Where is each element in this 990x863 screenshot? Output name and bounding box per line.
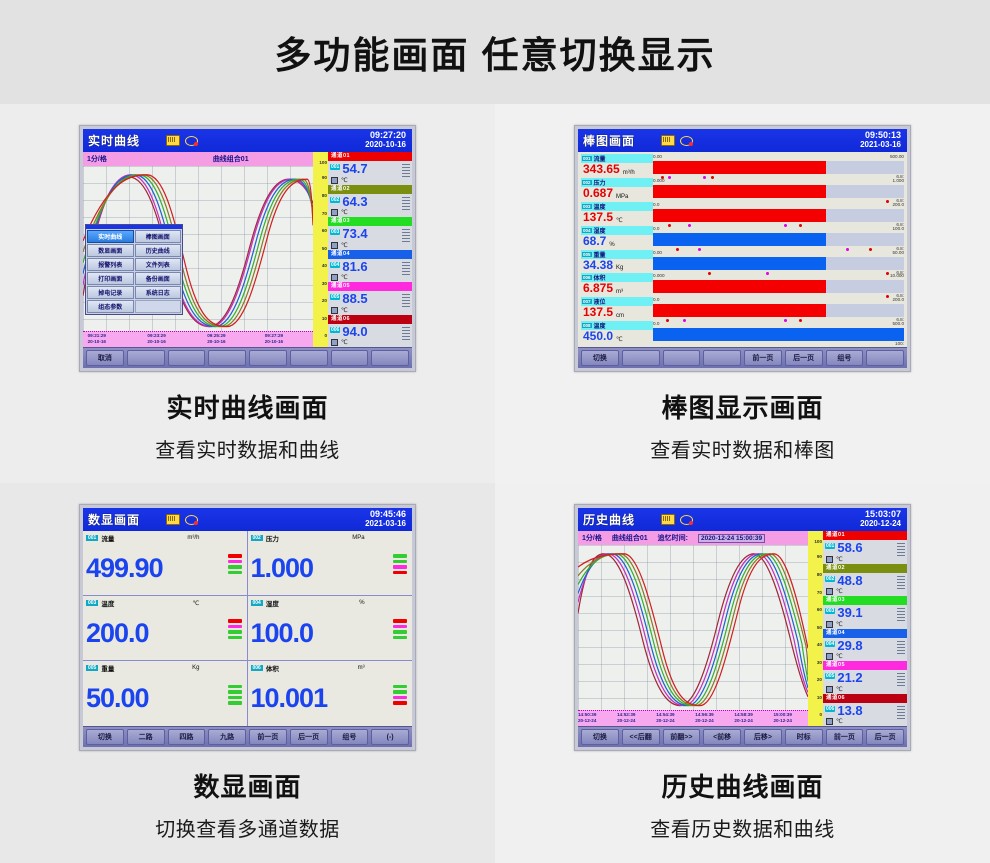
titlebar: 棒图画面 09:50:13 2021-03-16 xyxy=(578,129,907,152)
channel-row[interactable]: 通道05 005 21.2 ℃ xyxy=(823,661,907,694)
footer-button[interactable]: 四路 xyxy=(168,729,206,745)
bar-range-min: 0.0 xyxy=(653,297,659,302)
channel-tag: 003 xyxy=(330,229,340,235)
bar-fill xyxy=(653,161,826,174)
channel-name: 通道02 xyxy=(328,185,412,194)
signal-bars-icon xyxy=(897,607,905,621)
digital-unit: % xyxy=(359,600,364,606)
bar-value: 137.5 xyxy=(583,211,613,224)
footer-button[interactable] xyxy=(331,350,369,366)
digital-name: 流量 xyxy=(101,533,114,543)
digital-cell[interactable]: 001 流量 m³/h 499.90 xyxy=(83,531,248,596)
bar-value: 450.0 xyxy=(583,330,613,343)
channel-name: 通道01 xyxy=(328,152,412,161)
digital-value: 10.001 xyxy=(251,685,328,712)
channel-tag: 004 xyxy=(825,641,835,647)
footer-button[interactable]: 时标 xyxy=(785,729,823,745)
panel-caption-sub: 查看实时数据和棒图 xyxy=(650,434,835,463)
panel-caption-title: 数显画面 xyxy=(193,767,301,804)
bar-value: 6.875 xyxy=(583,282,613,295)
channel-unit: ℃ xyxy=(341,209,348,216)
digital-value: 100.0 xyxy=(251,620,314,647)
channel-tag: 005 xyxy=(825,673,835,679)
menu-item-empty xyxy=(135,300,182,313)
channel-unit: ℃ xyxy=(836,588,843,595)
menu-item-history-curve[interactable]: 历史曲线 xyxy=(135,244,182,257)
digital-tag: 003 xyxy=(86,600,98,606)
channel-tag: 004 xyxy=(330,262,340,268)
bar-right-unit: 100: xyxy=(895,341,904,346)
bar-unit: Kg xyxy=(616,265,623,273)
bar-unit: m³/h xyxy=(623,170,635,178)
channel-name: 通道04 xyxy=(823,629,907,638)
bar-range-max: 1.000 xyxy=(893,178,905,183)
footer-button[interactable]: 切换 xyxy=(86,729,124,745)
digital-cell[interactable]: 004 湿度 % 100.0 xyxy=(248,596,413,661)
channel-tag: 005 xyxy=(330,294,340,300)
bar-row[interactable]: 004 湿度 68.7 % 0.0 xyxy=(581,226,904,250)
bar-range-max: 100.0 xyxy=(893,226,905,231)
channel-row[interactable]: 通道01 001 58.6 ℃ xyxy=(823,531,907,564)
digital-value: 50.00 xyxy=(86,685,149,712)
bar-range-min: 0.0 xyxy=(653,226,659,231)
bar-value: 343.65 xyxy=(583,163,620,176)
bar-row[interactable]: 001 流量 343.65 m³/h 0.00 xyxy=(581,154,904,178)
footer-buttons: 取消 xyxy=(83,347,412,368)
scale-tick: 50 xyxy=(322,246,327,251)
signal-bars-icon xyxy=(402,228,410,242)
device-screen-history[interactable]: 历史曲线 15:03:07 2020-12-24 xyxy=(574,504,911,751)
scale-tick: 90 xyxy=(322,175,327,180)
digital-value: 200.0 xyxy=(86,620,149,647)
digital-name: 湿度 xyxy=(266,598,279,608)
clock-date: 2020-12-24 xyxy=(860,519,901,529)
signal-bars-icon xyxy=(402,261,410,275)
screen-title: 实时曲线 xyxy=(88,132,140,149)
bar-unit: ℃ xyxy=(616,336,623,345)
channel-name: 通道03 xyxy=(823,596,907,605)
footer-button[interactable] xyxy=(127,350,165,366)
menu-item-realtime-curve[interactable]: 实时曲线 xyxy=(87,230,134,243)
channel-row[interactable]: 通道03 003 39.1 ℃ xyxy=(823,596,907,629)
signal-bars-icon xyxy=(402,326,410,340)
footer-button[interactable] xyxy=(208,350,246,366)
digital-tag: 002 xyxy=(251,535,263,541)
scale-tick: 40 xyxy=(322,263,327,268)
channel-value: 54.7 xyxy=(342,162,367,175)
channel-unit: ℃ xyxy=(341,307,348,314)
channel-value: 73.4 xyxy=(342,227,367,240)
clock: 09:27:20 2020-10-16 xyxy=(365,130,406,150)
footer-button[interactable]: 组号 xyxy=(331,729,369,745)
scale-tick: 10 xyxy=(322,316,327,321)
channel-unit: ℃ xyxy=(836,718,843,725)
footer-button[interactable] xyxy=(866,350,904,366)
footer-button[interactable]: 后一页 xyxy=(785,350,823,366)
channel-tag: 001 xyxy=(330,164,340,170)
menu-item-system-log[interactable]: 系统日志 xyxy=(135,286,182,299)
channel-tag: 001 xyxy=(825,543,835,549)
bar-range-min: 0.000 xyxy=(653,178,665,183)
channel-row[interactable]: 通道06 006 13.8 ℃ xyxy=(823,694,907,727)
bar-range-min: 0.0 xyxy=(653,202,659,207)
digital-unit: MPa xyxy=(352,535,364,541)
screen-title: 数显画面 xyxy=(88,511,140,528)
sd-card-icon xyxy=(661,514,675,525)
scale-tick: 40 xyxy=(817,642,822,647)
footer-button[interactable]: <前移 xyxy=(703,729,741,745)
curve-time-axis: 09:21:29 20-10-16 09:23:29 20-10-16 09:2… xyxy=(83,331,313,347)
footer-button[interactable]: 后一页 xyxy=(866,729,904,745)
bar-tag: 006 xyxy=(582,275,592,280)
channel-panel: 通道01 001 58.6 ℃ 通道02 xyxy=(823,531,907,726)
time-tick: 09:25:29 20-10-16 xyxy=(207,333,225,345)
footer-button[interactable] xyxy=(290,350,328,366)
panel-caption-title: 棒图显示画面 xyxy=(661,388,823,425)
digital-tag: 005 xyxy=(86,665,98,671)
menu-item-digital[interactable]: 数显画面 xyxy=(87,244,134,257)
scale-tick: 50 xyxy=(817,625,822,630)
channel-row[interactable]: 通道04 004 81.6 ℃ xyxy=(328,250,412,283)
scale-tick: 70 xyxy=(322,211,327,216)
panel-bar-graph: 棒图画面 09:50:13 2021-03-16 xyxy=(495,104,990,483)
footer-button[interactable] xyxy=(703,350,741,366)
bar-tag: 001 xyxy=(582,156,592,161)
bar-range-min: 0.0 xyxy=(653,321,659,326)
footer-button[interactable] xyxy=(663,350,701,366)
footer-button[interactable]: <<后翻 xyxy=(622,729,660,745)
curve-rate: 1分/格 xyxy=(582,533,602,543)
footer-button[interactable]: 二路 xyxy=(127,729,165,745)
bar-tag: 008 xyxy=(582,323,592,328)
digital-tag: 001 xyxy=(86,535,98,541)
scale-tick: 60 xyxy=(322,228,327,233)
digital-unit: m³/h xyxy=(187,535,199,541)
curve-plot-area[interactable]: 实时曲线 棒图画面 数显画面 历史曲线 报警列表 文件列表 打印画面 备份画面 xyxy=(83,166,313,331)
bar-tag: 002 xyxy=(582,180,592,185)
menu-item-alarm-list[interactable]: 报警列表 xyxy=(87,258,134,271)
scale-tick: 80 xyxy=(322,193,327,198)
clock-time: 09:27:20 xyxy=(365,130,406,140)
bar-unit: MPa xyxy=(616,194,628,202)
channel-unit: ℃ xyxy=(836,556,843,563)
page-root: 多功能画面 任意切换显示 实时曲线 09:27:20 2020-10-16 xyxy=(0,0,990,863)
bar-fill xyxy=(653,209,826,222)
footer-button[interactable] xyxy=(371,350,409,366)
channel-checkbox[interactable] xyxy=(331,274,338,281)
panel-history-curve: 历史曲线 15:03:07 2020-12-24 xyxy=(495,483,990,863)
channel-name: 通道02 xyxy=(823,564,907,573)
digital-tag: 004 xyxy=(251,600,263,606)
panel-realtime-curve: 实时曲线 09:27:20 2020-10-16 xyxy=(0,104,495,483)
sd-card-icon xyxy=(166,135,180,146)
digital-name: 体积 xyxy=(266,663,279,673)
bar-fill xyxy=(653,185,826,198)
channel-tag: 002 xyxy=(330,197,340,203)
bar-fill xyxy=(653,304,826,317)
clock-date: 2020-10-16 xyxy=(365,140,406,150)
digital-value: 1.000 xyxy=(251,555,314,582)
channel-tag: 003 xyxy=(825,608,835,614)
bar-range-max: 500.00 xyxy=(890,154,904,159)
screen-title: 棒图画面 xyxy=(583,132,635,149)
curve-time-axis: 14:50:39 20-12-24 14:52:39 20-12-24 14:5… xyxy=(578,710,808,726)
scale-tick: 0 xyxy=(324,333,327,338)
footer-button[interactable]: 后一页 xyxy=(290,729,328,745)
footer-button[interactable]: 前一页 xyxy=(826,729,864,745)
bar-range-max: 50.00 xyxy=(893,250,905,255)
channel-row[interactable]: 通道02 002 64.3 ℃ xyxy=(328,185,412,218)
scale-tick: 0 xyxy=(819,712,822,717)
popup-menu[interactable]: 实时曲线 棒图画面 数显画面 历史曲线 报警列表 文件列表 打印画面 备份画面 xyxy=(85,224,183,315)
recall-label: 追忆时间: xyxy=(658,533,688,543)
curve-toolbar: 1分/格 曲线组合01 xyxy=(83,152,313,166)
bar-value: 137.5 xyxy=(583,306,613,319)
bar-row[interactable]: 003 温度 137.5 ℃ 0.0 xyxy=(581,202,904,226)
device-screen-digital[interactable]: 数显画面 09:45:46 2021-03-16 xyxy=(79,504,416,751)
menu-item-backup[interactable]: 备份画面 xyxy=(135,272,182,285)
bar-fill xyxy=(653,233,826,246)
device-screen-realtime[interactable]: 实时曲线 09:27:20 2020-10-16 xyxy=(79,125,416,372)
footer-button[interactable]: 后移> xyxy=(744,729,782,745)
digital-unit: m³ xyxy=(358,665,365,671)
bar-range-min: 0.00 xyxy=(653,250,662,255)
clock: 09:45:46 2021-03-16 xyxy=(365,509,406,529)
clock-time: 09:50:13 xyxy=(860,130,901,140)
recall-time-input[interactable]: 2020-12-24 15:00:39 xyxy=(698,534,765,543)
bar-tag: 004 xyxy=(582,228,592,233)
time-tick: 14:50:39 20-12-24 xyxy=(578,712,596,724)
bar-unit: ℃ xyxy=(616,217,623,226)
scale-tick: 70 xyxy=(817,590,822,595)
channel-checkbox[interactable] xyxy=(331,177,338,184)
clock-time: 15:03:07 xyxy=(860,509,901,519)
bar-row[interactable]: 005 重量 34.38 Kg 0.00 xyxy=(581,250,904,274)
channel-row[interactable]: 通道05 005 88.5 ℃ xyxy=(328,282,412,315)
bar-row[interactable]: 002 压力 0.687 MPa 0.000 xyxy=(581,178,904,202)
footer-button[interactable]: 前一页 xyxy=(744,350,782,366)
curve-rate: 1分/格 xyxy=(87,154,107,164)
scale-tick: 80 xyxy=(817,572,822,577)
bar-range-max: 500.0 xyxy=(893,321,905,326)
menu-item-print[interactable]: 打印画面 xyxy=(87,272,134,285)
time-tick: 14:54:39 20-12-24 xyxy=(656,712,674,724)
footer-buttons: 切换 二路 四路 九路 前一页 后一页 组号 (-) xyxy=(83,726,412,747)
channel-unit: ℃ xyxy=(341,177,348,184)
clock-time: 09:45:46 xyxy=(365,509,406,519)
digital-unit: Kg xyxy=(192,665,199,671)
channel-row[interactable]: 通道02 002 48.8 ℃ xyxy=(823,564,907,597)
channel-row[interactable]: 通道01 001 54.7 ℃ xyxy=(328,152,412,185)
footer-button[interactable] xyxy=(249,350,287,366)
channel-value: 94.0 xyxy=(342,325,367,338)
usb-icon xyxy=(185,514,198,525)
time-tick: 14:58:39 20-12-24 xyxy=(734,712,752,724)
channel-value: 39.1 xyxy=(837,606,862,619)
channel-value: 58.6 xyxy=(837,541,862,554)
digital-cell[interactable]: 005 重量 Kg 50.00 xyxy=(83,661,248,726)
clock-date: 2021-03-16 xyxy=(860,140,901,150)
channel-unit: ℃ xyxy=(341,242,348,249)
scale-tick: 100 xyxy=(814,539,822,544)
curve-group: 曲线组合01 xyxy=(213,154,249,164)
digital-cell[interactable]: 003 温度 ℃ 200.0 xyxy=(83,596,248,661)
screen-title: 历史曲线 xyxy=(583,511,635,528)
curve-plot-area[interactable] xyxy=(578,545,808,710)
channel-checkbox[interactable] xyxy=(826,653,833,660)
digital-unit: ℃ xyxy=(193,600,200,607)
footer-button[interactable]: 前翻>> xyxy=(663,729,701,745)
curve-group: 曲线组合01 xyxy=(612,533,648,543)
time-tick: 14:52:39 20-12-24 xyxy=(617,712,635,724)
channel-row[interactable]: 通道04 004 29.8 ℃ xyxy=(823,629,907,662)
bar-range-max: 10.000 xyxy=(890,273,904,278)
channel-tag: 006 xyxy=(825,706,835,712)
digital-name: 温度 xyxy=(101,598,114,608)
channel-name: 通道04 xyxy=(328,250,412,259)
bar-value: 0.687 xyxy=(583,187,613,200)
footer-button[interactable]: (-) xyxy=(371,729,409,745)
channel-checkbox[interactable] xyxy=(826,621,833,628)
device-screen-bargraph[interactable]: 棒图画面 09:50:13 2021-03-16 xyxy=(574,125,911,372)
footer-button[interactable]: 取消 xyxy=(86,350,124,366)
channel-checkbox[interactable] xyxy=(331,209,338,216)
footer-button[interactable]: 九路 xyxy=(208,729,246,745)
channel-checkbox[interactable] xyxy=(331,242,338,249)
alarm-led-strip xyxy=(228,554,242,574)
signal-bars-icon xyxy=(402,196,410,210)
channel-checkbox[interactable] xyxy=(826,556,833,563)
clock: 09:50:13 2021-03-16 xyxy=(860,130,901,150)
channel-name: 通道06 xyxy=(328,315,412,324)
signal-bars-icon xyxy=(402,293,410,307)
bar-range-max: 200.0 xyxy=(893,297,905,302)
scale-tick: 20 xyxy=(817,677,822,682)
bar-unit: cm xyxy=(616,313,624,321)
channel-checkbox[interactable] xyxy=(826,588,833,595)
footer-button[interactable] xyxy=(168,350,206,366)
menu-item-file-list[interactable]: 文件列表 xyxy=(135,258,182,271)
digital-grid: 001 流量 m³/h 499.90 xyxy=(83,531,412,726)
bar-value: 34.38 xyxy=(583,259,613,272)
scale-tick: 30 xyxy=(817,660,822,665)
signal-bars-icon xyxy=(897,542,905,556)
usb-icon xyxy=(680,514,693,525)
channel-checkbox[interactable] xyxy=(826,686,833,693)
channel-tag: 002 xyxy=(825,576,835,582)
channel-checkbox[interactable] xyxy=(331,307,338,314)
channel-value: 88.5 xyxy=(342,292,367,305)
curve-value-scale: 100 90 80 70 60 50 40 30 20 10 0 xyxy=(808,531,823,726)
channel-unit: ℃ xyxy=(836,653,843,660)
menu-item-power-loss-log[interactable]: 掉电记录 xyxy=(87,286,134,299)
sd-card-icon xyxy=(166,514,180,525)
channel-name: 通道05 xyxy=(328,282,412,291)
scale-tick: 30 xyxy=(322,281,327,286)
footer-button[interactable] xyxy=(622,350,660,366)
channel-name: 通道06 xyxy=(823,694,907,703)
bar-value: 68.7 xyxy=(583,235,606,248)
usb-icon xyxy=(185,135,198,146)
footer-button[interactable]: 切换 xyxy=(581,350,619,366)
bar-tag: 007 xyxy=(582,299,592,304)
channel-value: 13.8 xyxy=(837,704,862,717)
channel-checkbox[interactable] xyxy=(826,718,833,725)
bar-row[interactable]: 007 液位 137.5 cm 0.0 xyxy=(581,297,904,321)
menu-item-bar-graph[interactable]: 棒图画面 xyxy=(135,230,182,243)
channel-row[interactable]: 通道03 003 73.4 ℃ xyxy=(328,217,412,250)
curve-toolbar: 1分/格 曲线组合01 追忆时间: 2020-12-24 15:00:39 xyxy=(578,531,808,545)
scale-tick: 60 xyxy=(817,607,822,612)
footer-button[interactable]: 组号 xyxy=(826,350,864,366)
channel-unit: ℃ xyxy=(341,274,348,281)
alarm-led-strip xyxy=(393,685,407,705)
alarm-led-strip xyxy=(228,685,242,705)
time-tick: 09:21:29 20-10-16 xyxy=(88,333,106,345)
time-tick: 09:23:29 20-10-16 xyxy=(147,333,165,345)
menu-item-config-params[interactable]: 组态参数 xyxy=(87,300,134,313)
channel-name: 通道03 xyxy=(328,217,412,226)
scale-tick: 10 xyxy=(817,695,822,700)
clock-date: 2021-03-16 xyxy=(365,519,406,529)
channel-checkbox[interactable] xyxy=(331,339,338,346)
bar-unit: % xyxy=(609,242,614,250)
bar-fill xyxy=(653,280,826,293)
bar-rows: 001 流量 343.65 m³/h 0.00 xyxy=(578,152,907,347)
channel-value: 48.8 xyxy=(837,574,862,587)
channel-value: 21.2 xyxy=(837,671,862,684)
panel-caption-sub: 查看历史数据和曲线 xyxy=(650,813,835,842)
bar-tag: 005 xyxy=(582,252,592,257)
bar-range-min: 0.000 xyxy=(653,273,665,278)
channel-name: 通道01 xyxy=(823,531,907,540)
channel-panel: 通道01 001 54.7 ℃ 通道02 xyxy=(328,152,412,347)
signal-bars-icon xyxy=(897,705,905,719)
digital-value: 499.90 xyxy=(86,555,163,582)
alarm-led-strip xyxy=(393,619,407,639)
panel-grid: 实时曲线 09:27:20 2020-10-16 xyxy=(0,104,990,863)
digital-name: 重量 xyxy=(101,663,114,673)
bar-range-max: 200.0 xyxy=(893,202,905,207)
channel-unit: ℃ xyxy=(836,621,843,628)
bar-row[interactable]: 006 体积 6.875 m³ 0.000 xyxy=(581,273,904,297)
scale-tick: 100 xyxy=(319,160,327,165)
footer-button[interactable]: 前一页 xyxy=(249,729,287,745)
digital-cell[interactable]: 002 压力 MPa 1.000 xyxy=(248,531,413,596)
page-title: 多功能画面 任意切换显示 xyxy=(274,25,715,79)
digital-name: 压力 xyxy=(266,533,279,543)
signal-bars-icon xyxy=(897,672,905,686)
scale-tick: 20 xyxy=(322,298,327,303)
clock: 15:03:07 2020-12-24 xyxy=(860,509,901,529)
signal-bars-icon xyxy=(897,575,905,589)
bar-row[interactable]: 008 温度 450.0 ℃ 0.0 xyxy=(581,321,904,345)
bar-range-min: 0.00 xyxy=(653,154,662,159)
footer-button[interactable]: 切换 xyxy=(581,729,619,745)
page-banner: 多功能画面 任意切换显示 xyxy=(0,0,990,104)
usb-icon xyxy=(680,135,693,146)
signal-bars-icon xyxy=(402,163,410,177)
digital-cell[interactable]: 006 体积 m³ 10.001 xyxy=(248,661,413,726)
channel-value: 64.3 xyxy=(342,195,367,208)
signal-bars-icon xyxy=(897,640,905,654)
sd-card-icon xyxy=(661,135,675,146)
time-tick: 15:00:39 20-12-24 xyxy=(774,712,792,724)
titlebar: 历史曲线 15:03:07 2020-12-24 xyxy=(578,508,907,531)
channel-row[interactable]: 通道06 006 94.0 ℃ xyxy=(328,315,412,348)
titlebar: 数显画面 09:45:46 2021-03-16 xyxy=(83,508,412,531)
channel-value: 29.8 xyxy=(837,639,862,652)
